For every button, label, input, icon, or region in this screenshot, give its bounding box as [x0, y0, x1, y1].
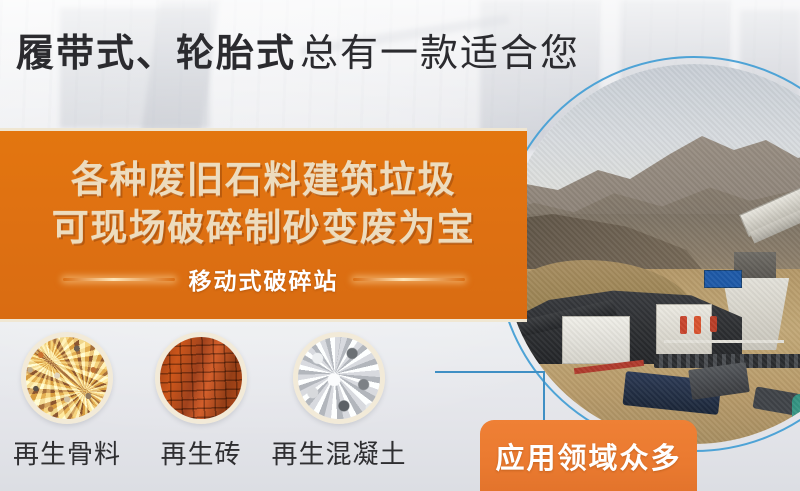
product-label: 再生骨料	[0, 434, 142, 471]
product-item-recycled-concrete[interactable]: 再生混凝土	[264, 332, 414, 471]
subtitle-divider-left-icon	[63, 278, 175, 281]
connector-line-horizontal	[435, 371, 545, 373]
product-label: 再生砖	[126, 434, 276, 471]
photo-grain-overlay	[504, 64, 800, 444]
concrete-texture	[298, 337, 380, 419]
brick-texture	[160, 337, 242, 419]
band-line-2: 可现场破碎制砂变废为宝	[0, 197, 527, 251]
application-badge[interactable]: 应用领域众多	[480, 420, 697, 491]
product-image-recycled-concrete	[293, 332, 385, 424]
band-line-1: 各种废旧石料建筑垃圾	[0, 149, 527, 203]
product-list: 再生骨料 再生砖 再生混凝土	[0, 332, 470, 487]
mobile-crushing-plant-photo	[504, 64, 800, 444]
orange-headline-band: 各种废旧石料建筑垃圾 可现场破碎制砂变废为宝 移动式破碎站	[0, 128, 527, 322]
product-item-recycled-brick[interactable]: 再生砖	[126, 332, 276, 471]
band-subtitle: 移动式破碎站	[189, 262, 339, 296]
product-image-recycled-brick	[155, 332, 247, 424]
headline-strong: 履带式、轮胎式	[16, 33, 296, 75]
application-badge-label: 应用领域众多	[495, 435, 681, 477]
product-item-recycled-aggregate[interactable]: 再生骨料	[0, 332, 142, 471]
product-label: 再生混凝土	[264, 434, 414, 471]
aggregate-texture	[26, 337, 108, 419]
promo-banner: 履带式、轮胎式总有一款适合您 各种废旧石料建筑垃圾 可现场破碎制砂变废为宝 移动…	[0, 0, 800, 491]
band-subtitle-row: 移动式破碎站	[0, 261, 527, 297]
product-image-recycled-aggregate	[21, 332, 113, 424]
subtitle-divider-right-icon	[353, 278, 465, 281]
headline: 履带式、轮胎式总有一款适合您	[16, 33, 580, 76]
